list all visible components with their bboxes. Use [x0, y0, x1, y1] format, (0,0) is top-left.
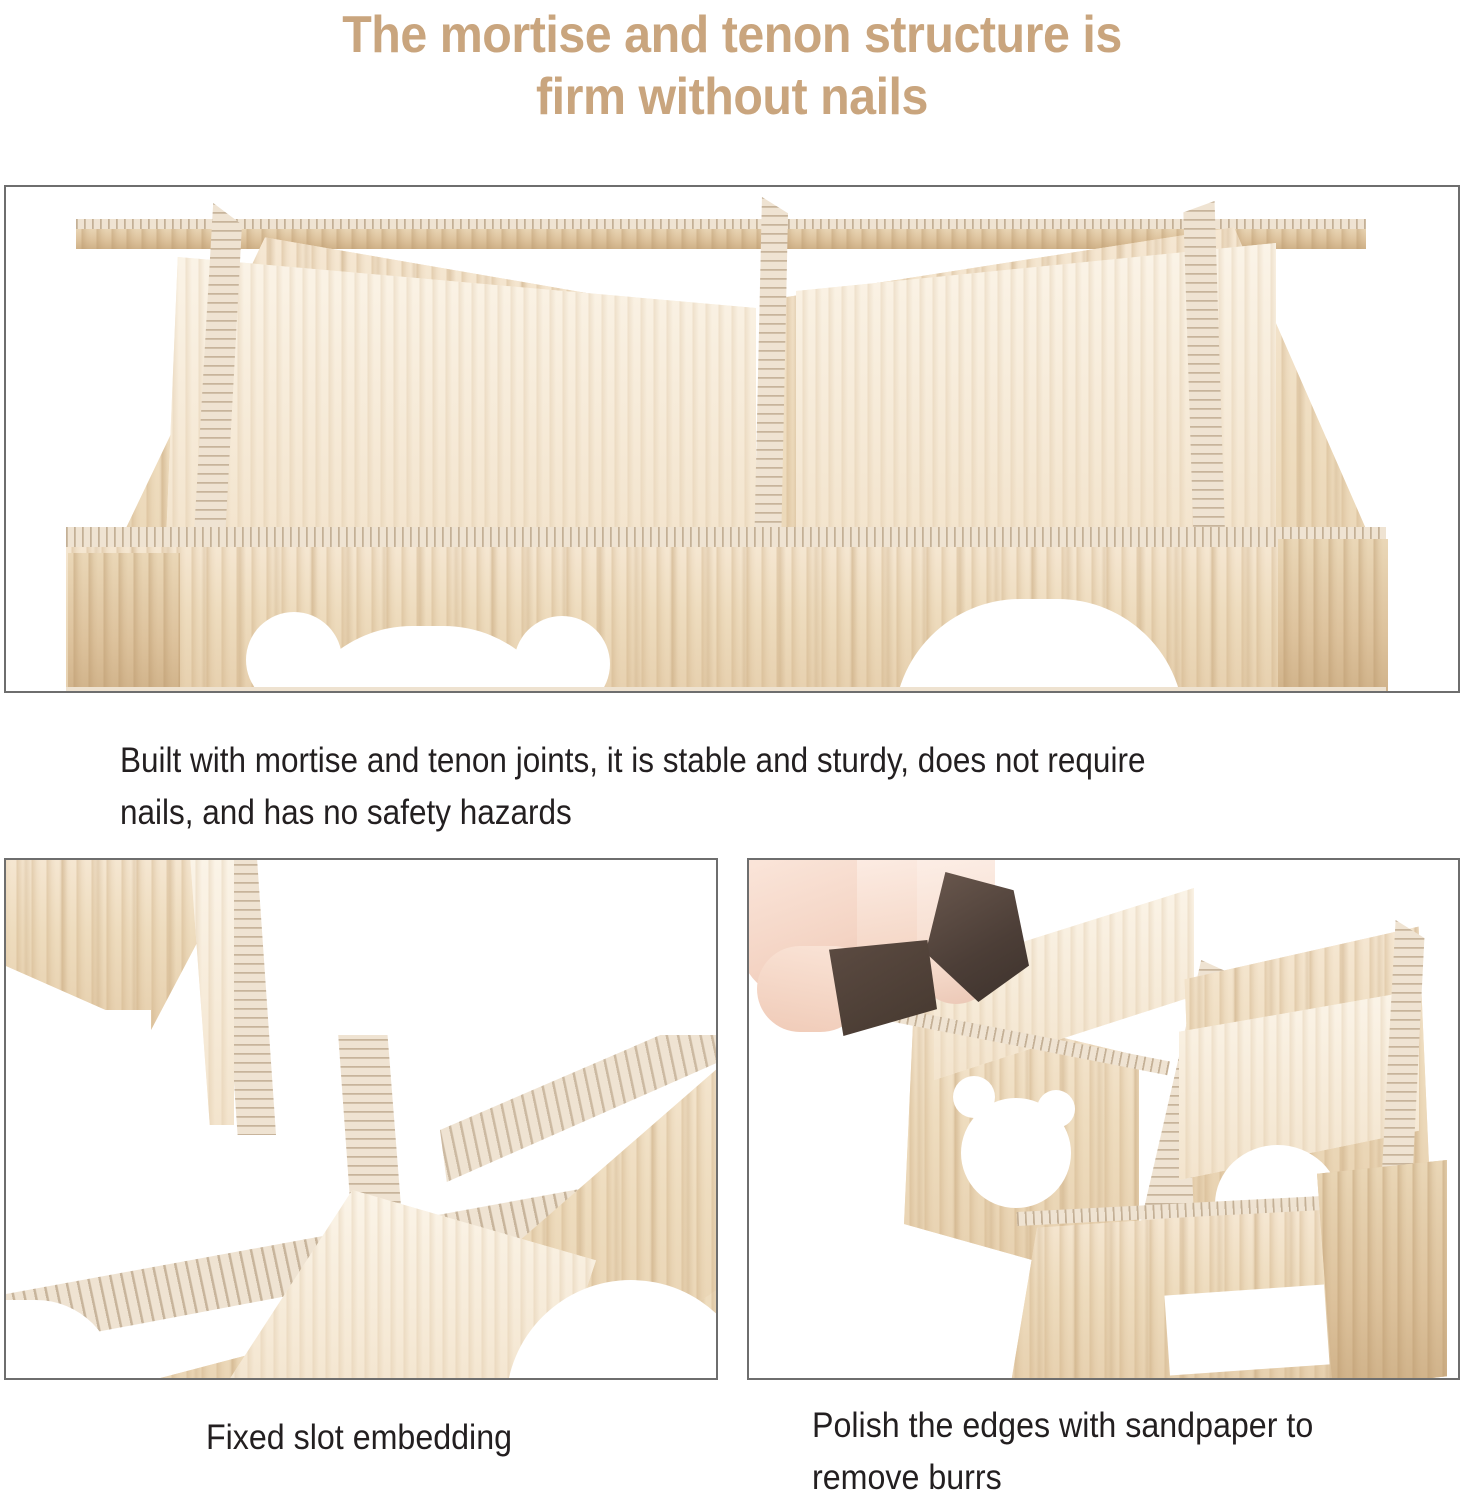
page-title-line-1: The mortise and tenon structure is — [51, 4, 1413, 66]
front-bottom-edge — [66, 687, 1386, 691]
left-corner-post — [68, 553, 180, 691]
main-description-line-1: Built with mortise and tenon joints, it … — [120, 735, 1380, 787]
caption-right: Polish the edges with sandpaper to remov… — [812, 1400, 1410, 1504]
main-photo-scene — [6, 187, 1458, 691]
slot-joint-scene — [6, 860, 716, 1378]
main-description: Built with mortise and tenon joints, it … — [120, 735, 1380, 839]
page-title-line-2: firm without nails — [51, 66, 1413, 128]
caption-right-line-2: remove burrs — [812, 1452, 1410, 1504]
sanding-photo — [747, 858, 1460, 1380]
main-product-photo — [4, 185, 1460, 693]
right-lower-wall — [1317, 1160, 1447, 1378]
main-description-line-2: nails, and has no safety hazards — [120, 787, 1380, 839]
page-title: The mortise and tenon structure is firm … — [0, 4, 1464, 128]
left-compartment-interior — [166, 242, 756, 542]
caption-left-line-1: Fixed slot embedding — [29, 1412, 690, 1464]
caption-left: Fixed slot embedding — [29, 1412, 690, 1464]
sanding-scene — [749, 860, 1458, 1378]
white-card — [1164, 1285, 1329, 1376]
caption-right-line-1: Polish the edges with sandpaper to — [812, 1400, 1410, 1452]
slot-joint-photo — [4, 858, 718, 1380]
right-corner-post — [1278, 539, 1388, 691]
background-gap-upper-left — [6, 1010, 151, 1190]
front-wall-top-edge — [66, 527, 1386, 547]
bear-head-cutout-small — [945, 1076, 1115, 1226]
bear-head-cutout — [236, 592, 626, 691]
background-gap-top — [306, 860, 716, 1035]
sanding-block — [809, 878, 1019, 1028]
back-wall-top-edge — [76, 219, 1366, 229]
